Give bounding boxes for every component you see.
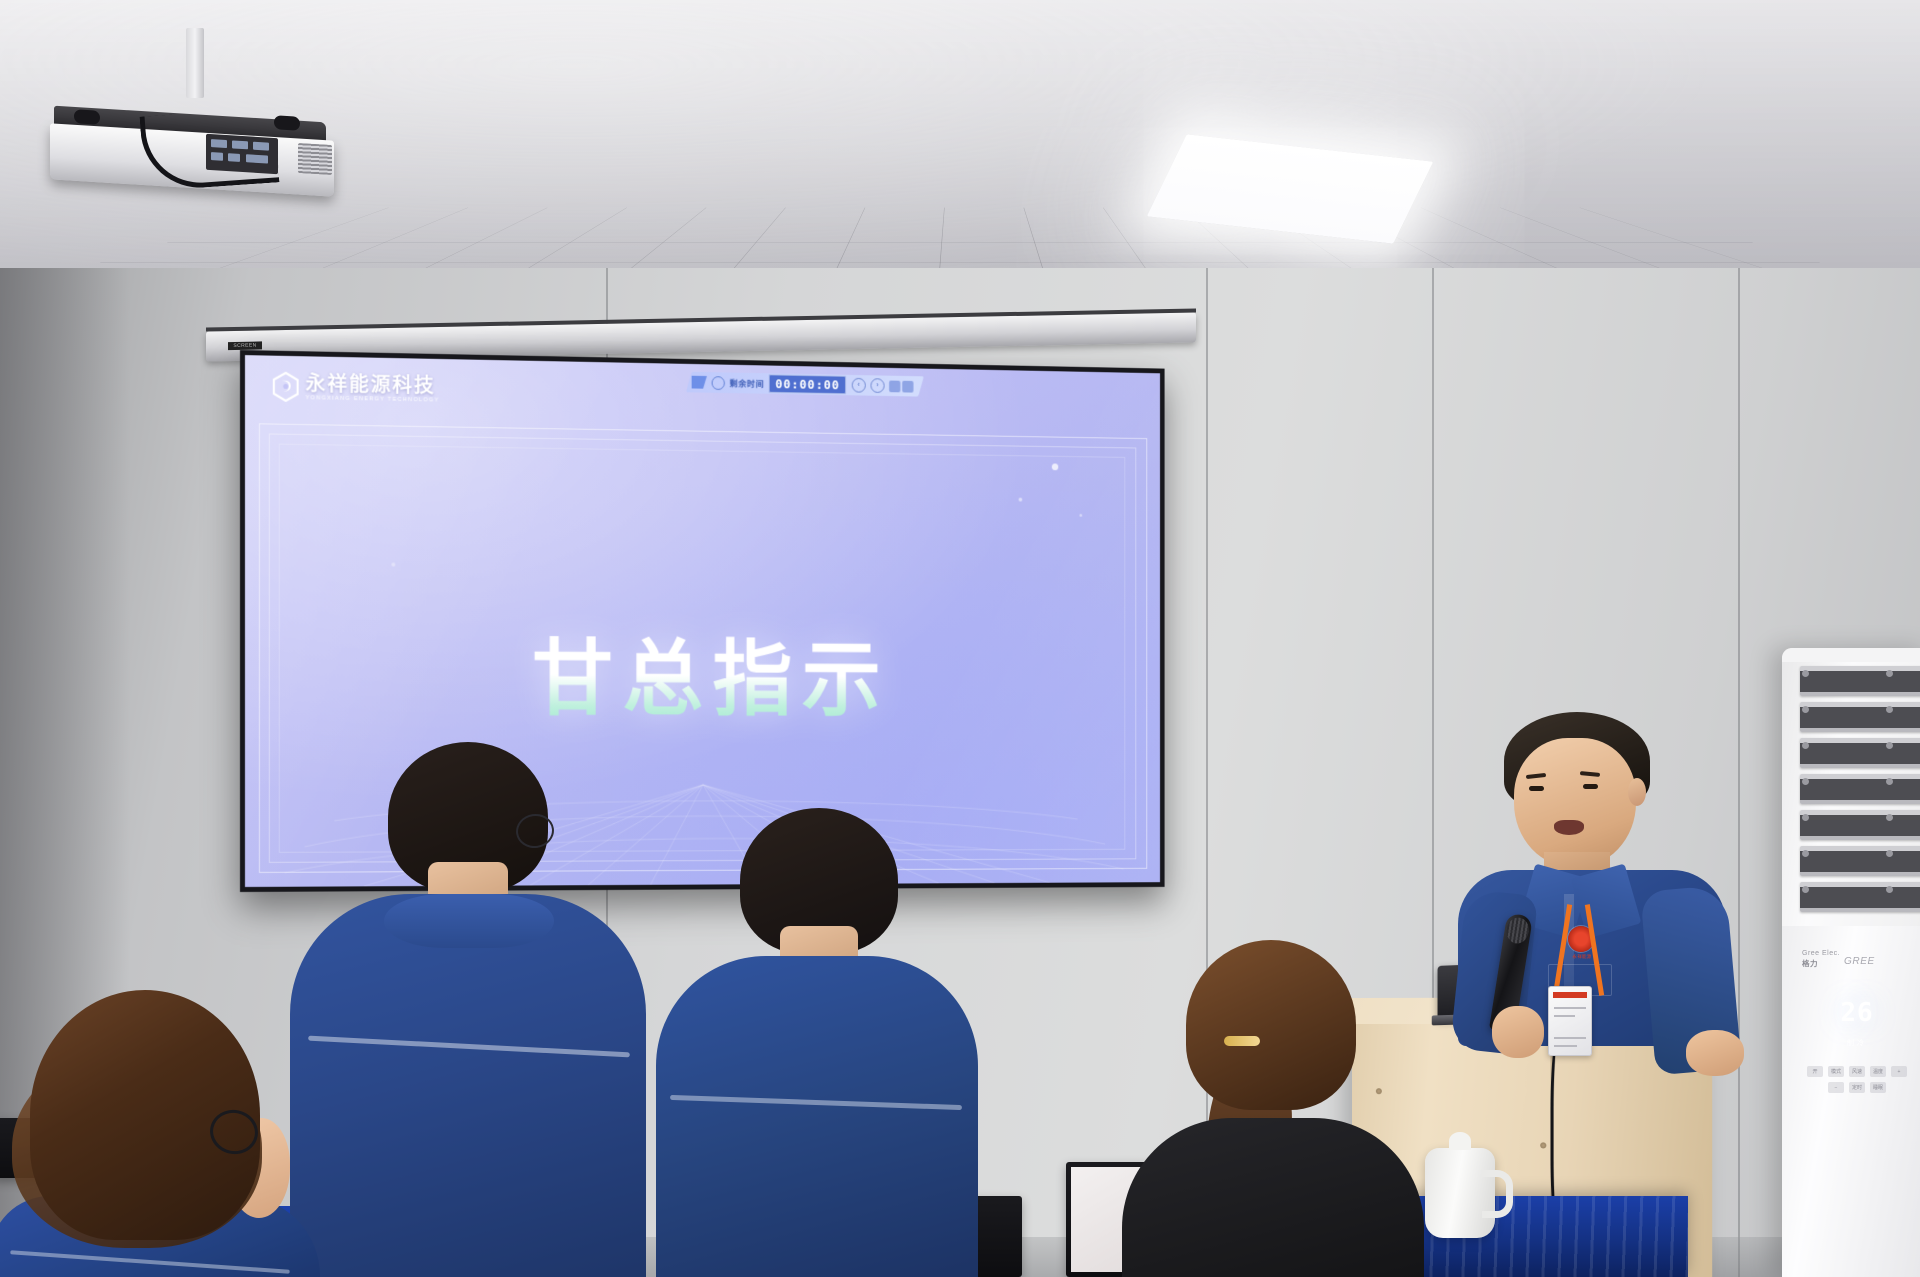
audience-woman-right [1128,940,1418,1277]
audience-collar [384,894,554,948]
audience-man-center [656,808,976,1277]
clock-icon [712,376,725,390]
audience-uniform [656,956,978,1277]
ac-touch-key[interactable]: 温度 [1870,1066,1886,1077]
ac-louver-slat [1800,702,1920,732]
white-teapot [1425,1148,1495,1238]
ac-louver-grille [1800,666,1920,914]
ac-touch-keypad[interactable]: 开模式风速温度+−定时睡眠 [1782,1066,1920,1093]
projector-foot-left [74,109,100,125]
ac-touch-key[interactable]: 睡眠 [1870,1082,1886,1093]
hair-clip-icon [1224,1036,1260,1046]
presenter-ear [1628,778,1646,806]
audience-black-top [1122,1118,1424,1277]
timer-label: 剩余时间 [730,377,765,389]
ac-touch-key[interactable]: 开 [1807,1066,1823,1077]
projector-mount-pole [186,28,204,98]
ac-louver-slat [1800,846,1920,876]
ac-louver-slat [1800,666,1920,696]
ac-temperature-display: 26 [1782,998,1920,1028]
timer-next-button[interactable]: › [870,378,884,393]
presenter-eye-left [1529,786,1544,791]
presenter-hand-left [1492,1006,1544,1058]
air-conditioner: Gree Elec. 格力 GREE 26 制冷 开模式风速温度+−定时睡眠 [1782,648,1920,1277]
ac-top-cap [1782,648,1920,662]
ac-brand-cn: 格力 [1802,958,1840,969]
ac-touch-key[interactable]: 定时 [1849,1082,1865,1093]
timer-value: 00:00:00 [769,374,847,394]
projector-foot-right [274,115,300,131]
ac-louver-slat [1800,738,1920,768]
logo-chinese-name: 永祥能源科技 [306,373,440,395]
presenter-mouth [1554,820,1584,835]
flag-icon [692,376,707,389]
ac-louver-slat [1800,774,1920,804]
badge-header-bar [1553,992,1587,998]
presenter-hand-right [1686,1030,1744,1076]
audience-man-left [292,742,642,1277]
hexagon-logo-icon [273,372,299,402]
timer-window-controls[interactable] [889,380,913,392]
audience-woman-left [0,990,320,1277]
ac-louver-slat [1800,810,1920,840]
slide-title: 甘总指示 [245,610,1160,733]
ac-sub-label: Gree Elec. 格力 [1802,950,1840,969]
ac-touch-key[interactable]: − [1828,1082,1844,1093]
audience-hair [1186,940,1356,1110]
presenter-with-microphone: 永祥能源 [1452,712,1742,1042]
ac-touch-key[interactable]: + [1891,1066,1907,1077]
presenter-face [1514,738,1636,868]
close-icon[interactable] [902,380,913,392]
presenter-eye-right [1583,784,1598,789]
timer-prev-button[interactable]: ‹ [851,378,865,393]
ac-touch-key[interactable]: 模式 [1828,1066,1844,1077]
housing-brand-label: SCREEN [228,341,262,350]
lanyard [1556,904,1600,994]
minimize-icon[interactable] [889,380,900,392]
slide-countdown-timer[interactable]: 剩余时间 00:00:00 ‹ › [686,372,924,397]
id-badge [1548,986,1592,1056]
ac-brand-logo: GREE [1844,956,1875,967]
ac-touch-key[interactable]: 风速 [1849,1066,1865,1077]
podium-screw [1540,1142,1546,1148]
ac-control-face: Gree Elec. 格力 GREE 26 制冷 开模式风速温度+−定时睡眠 [1782,926,1920,1277]
projector-vent [298,143,332,175]
logo-english-name: YONGXIANG ENERGY TECHNOLOGY [306,396,440,404]
ceiling-projector [46,88,346,208]
ac-mode-label: 制冷 [1782,1038,1920,1048]
ac-louver-slat [1800,882,1920,912]
conference-room-photo: SCREEN [0,0,1920,1277]
slide-company-logo: 永祥能源科技 YONGXIANG ENERGY TECHNOLOGY [273,372,440,405]
audience-uniform [290,894,646,1277]
